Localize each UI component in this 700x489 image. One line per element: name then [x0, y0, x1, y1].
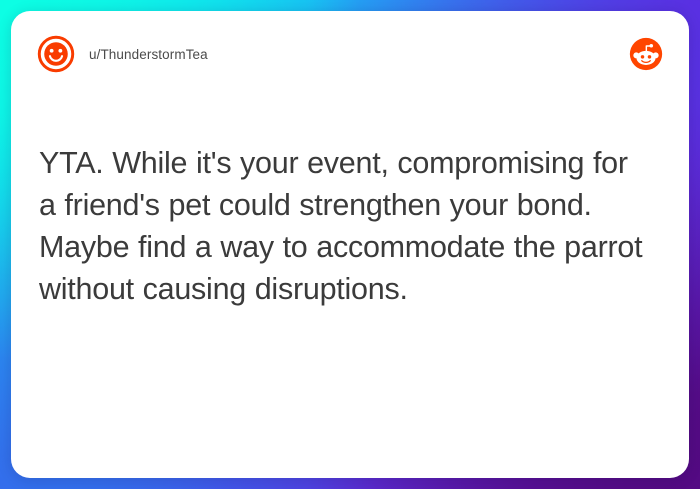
reddit-comment-card: u/ThunderstormTea YTA. Whi [11, 11, 689, 478]
username-label: u/ThunderstormTea [89, 47, 208, 62]
card-body: YTA. While it's your event, compromising… [11, 97, 689, 310]
reddit-snoo-icon[interactable] [629, 37, 663, 71]
avatar[interactable] [37, 35, 75, 73]
gradient-background: u/ThunderstormTea YTA. Whi [0, 0, 700, 489]
comment-text: YTA. While it's your event, compromising… [39, 142, 649, 310]
card-header: u/ThunderstormTea [11, 11, 689, 97]
